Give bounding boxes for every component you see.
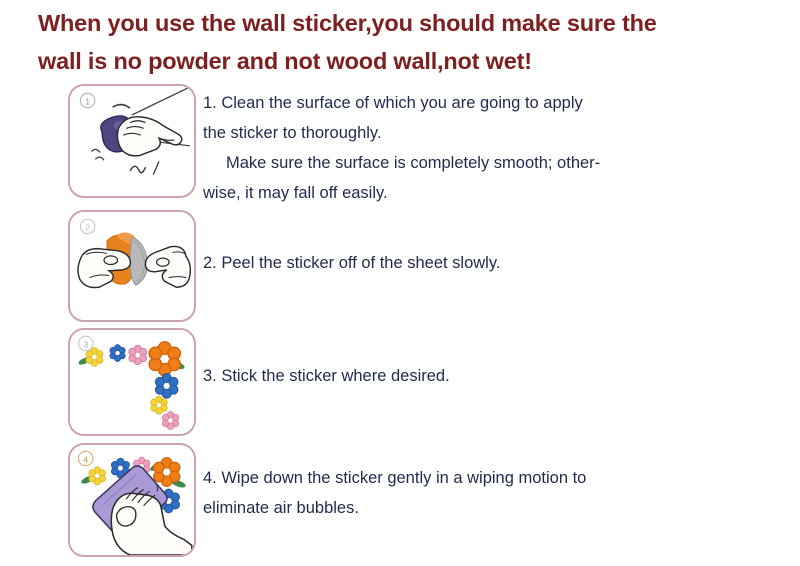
step-text-line: Make sure the surface is completely smoo… xyxy=(203,148,763,178)
svg-text:1: 1 xyxy=(85,96,90,106)
step-text-line: wise, it may fall off easily. xyxy=(203,178,763,208)
step-text-line: 1. Clean the surface of which you are go… xyxy=(203,88,763,118)
heading-line-2: wall is no powder and not wood wall,not … xyxy=(38,42,738,80)
step-text-line: the sticker to thoroughly. xyxy=(203,118,763,148)
step-text-4: 4. Wipe down the sticker gently in a wip… xyxy=(203,463,763,523)
step-text-line: eliminate air bubbles. xyxy=(203,493,763,523)
step-illustration-panel-3: 3 xyxy=(68,328,196,436)
step-text-line: 3. Stick the sticker where desired. xyxy=(203,361,763,391)
svg-text:3: 3 xyxy=(83,339,88,349)
hand-wiping-wall-with-cloth-icon: 1 xyxy=(70,86,194,196)
step-illustration-panel-1: 1 xyxy=(68,84,196,198)
step-illustration-panel-4: 4 xyxy=(68,443,196,557)
two-hands-peeling-sticker-from-sheet-icon: 2 xyxy=(70,212,194,320)
step-text-2: 2. Peel the sticker off of the sheet slo… xyxy=(203,248,763,278)
svg-text:4: 4 xyxy=(83,454,88,464)
step-text-1: 1. Clean the surface of which you are go… xyxy=(203,88,763,208)
page-heading: When you use the wall sticker,you should… xyxy=(38,4,738,80)
svg-text:2: 2 xyxy=(85,222,90,232)
step-text-line: 4. Wipe down the sticker gently in a wip… xyxy=(203,463,763,493)
instruction-steps-list: 1 1. Clean the surface of which you are … xyxy=(0,84,800,566)
step-text-line: 2. Peel the sticker off of the sheet slo… xyxy=(203,248,763,278)
heading-line-1: When you use the wall sticker,you should… xyxy=(38,4,738,42)
hand-wiping-flower-stickers-with-cloth-icon: 4 xyxy=(70,445,194,555)
step-text-3: 3. Stick the sticker where desired. xyxy=(203,361,763,391)
step-illustration-panel-2: 2 xyxy=(68,210,196,322)
flower-stickers-applied-to-wall-icon: 3 xyxy=(70,330,194,434)
